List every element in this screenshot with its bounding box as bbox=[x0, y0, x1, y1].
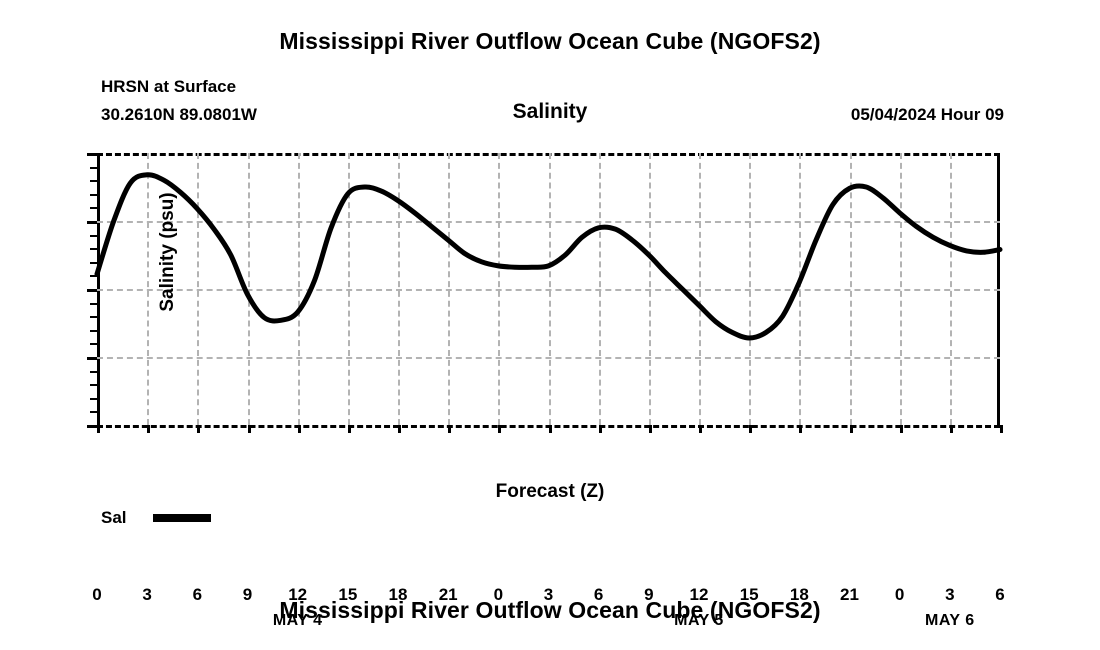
tick-y-minor bbox=[90, 316, 97, 318]
tick-x bbox=[298, 425, 301, 433]
tick-x bbox=[97, 425, 100, 433]
tick-x bbox=[448, 425, 451, 433]
tick-y-minor bbox=[90, 194, 97, 196]
y-axis-title: Salinity (psu) bbox=[157, 137, 179, 367]
series-line-sal bbox=[97, 153, 1000, 425]
tick-y-minor bbox=[90, 384, 97, 386]
tick-x bbox=[398, 425, 401, 433]
tick-y-major bbox=[87, 221, 97, 224]
tick-y-minor bbox=[90, 411, 97, 413]
tick-x bbox=[649, 425, 652, 433]
page-title: Mississippi River Outflow Ocean Cube (NG… bbox=[0, 28, 1100, 55]
series-path-sal bbox=[97, 175, 1000, 338]
tick-x bbox=[950, 425, 953, 433]
tick-x bbox=[1000, 425, 1003, 433]
tick-x bbox=[699, 425, 702, 433]
station-label: HRSN at Surface bbox=[101, 77, 236, 97]
tick-y-minor bbox=[90, 398, 97, 400]
tick-y-major bbox=[87, 357, 97, 360]
tick-x bbox=[900, 425, 903, 433]
tick-x bbox=[348, 425, 351, 433]
tick-x bbox=[799, 425, 802, 433]
tick-y-minor bbox=[90, 330, 97, 332]
legend: Sal bbox=[101, 508, 211, 528]
legend-label-sal: Sal bbox=[101, 508, 127, 528]
tick-y-minor bbox=[90, 262, 97, 264]
tick-y-major bbox=[87, 153, 97, 156]
tick-y-minor bbox=[90, 235, 97, 237]
legend-swatch-sal bbox=[153, 514, 211, 522]
tick-x bbox=[549, 425, 552, 433]
tick-x bbox=[248, 425, 251, 433]
tick-y-minor bbox=[90, 371, 97, 373]
plot-area: 23.0022.5022.0021.5021.00 03691215182103… bbox=[97, 153, 1000, 425]
tick-y-minor bbox=[90, 303, 97, 305]
forecast-datetime: 05/04/2024 Hour 09 bbox=[851, 105, 1004, 125]
tick-x bbox=[197, 425, 200, 433]
tick-x bbox=[599, 425, 602, 433]
tick-y-minor bbox=[90, 167, 97, 169]
tick-y-major bbox=[87, 289, 97, 292]
tick-y-minor bbox=[90, 343, 97, 345]
tick-x bbox=[749, 425, 752, 433]
tick-x bbox=[498, 425, 501, 433]
tick-y-minor bbox=[90, 248, 97, 250]
tick-y-minor bbox=[90, 207, 97, 209]
tick-y-major bbox=[87, 425, 97, 428]
footer-title: Mississippi River Outflow Ocean Cube (NG… bbox=[0, 597, 1100, 624]
tick-x bbox=[147, 425, 150, 433]
chart-page: Mississippi River Outflow Ocean Cube (NG… bbox=[0, 0, 1100, 650]
tick-y-minor bbox=[90, 180, 97, 182]
tick-x bbox=[850, 425, 853, 433]
x-axis-title: Forecast (Z) bbox=[0, 481, 1100, 503]
